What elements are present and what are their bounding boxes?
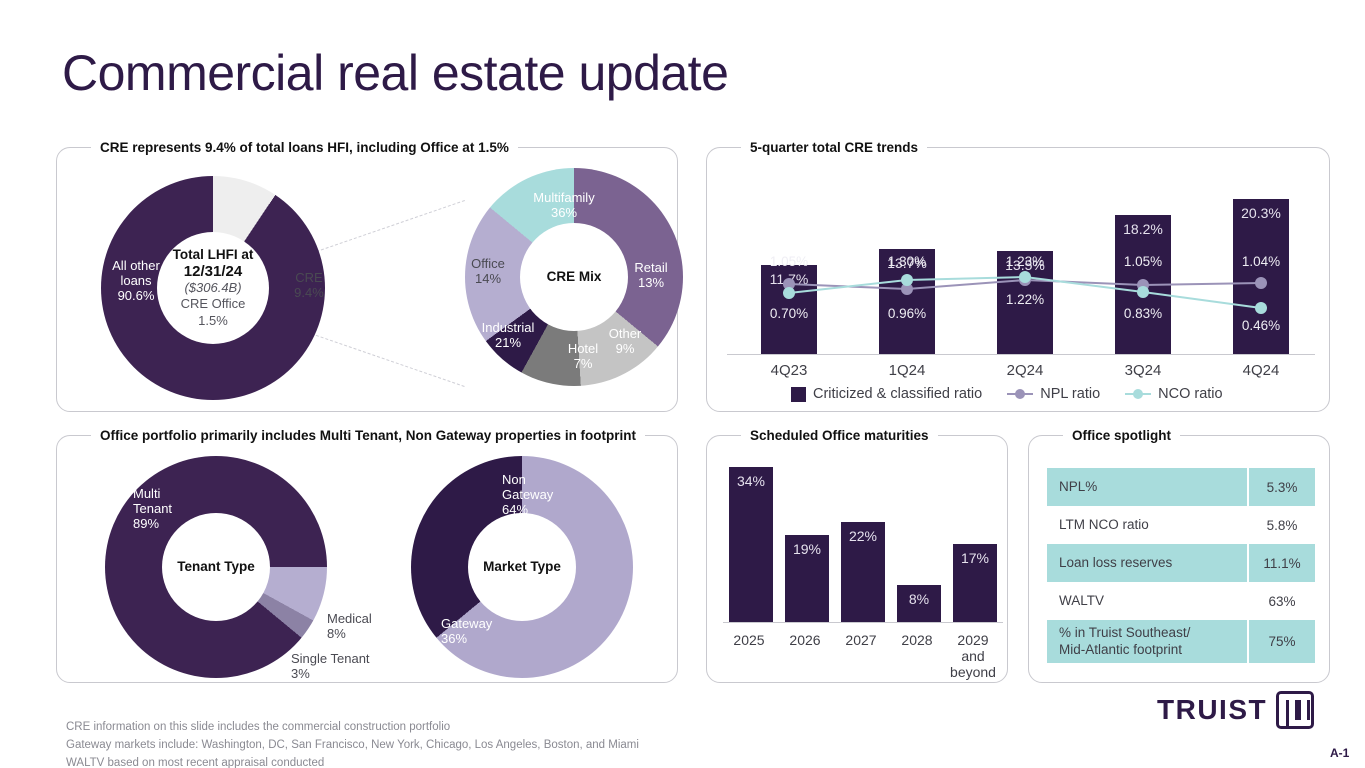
bar-maturity-value-2028: 8% bbox=[897, 591, 941, 607]
nco-value-2Q24: 1.22% bbox=[997, 292, 1053, 307]
truist-hh-mark-icon bbox=[1276, 691, 1314, 729]
legend-label-npl: NPL ratio bbox=[1040, 386, 1100, 402]
cre-mix-label-multifamily: Multifamily 36% bbox=[516, 190, 612, 220]
nco-marker-4Q24 bbox=[1255, 302, 1267, 314]
cre-mix-label-hotel: Hotel 7% bbox=[560, 341, 606, 371]
lhfi-label-cre: CRE 9.4% bbox=[281, 270, 337, 300]
bar-maturity-2028: 8% bbox=[897, 585, 941, 622]
connector-lower bbox=[302, 330, 465, 387]
nco-marker-3Q24 bbox=[1137, 286, 1149, 298]
footnote-line-2: Gateway markets include: Washington, DC,… bbox=[66, 737, 639, 755]
lhfi-center-line2: 12/31/24 bbox=[184, 263, 242, 280]
legend-item-nco: NCO ratio bbox=[1125, 386, 1222, 402]
npl-value-2Q24: 1.23% bbox=[997, 254, 1053, 269]
cre-mix-label-industrial: Industrial 21% bbox=[465, 320, 551, 350]
maturities-axis-line bbox=[723, 622, 1003, 623]
table-row: Loan loss reserves 11.1% bbox=[1047, 544, 1315, 582]
logo-wordmark: TRUIST bbox=[1157, 694, 1267, 726]
panel-office-portfolio-title: Office portfolio primarily includes Mult… bbox=[91, 426, 645, 446]
npl-value-4Q24: 1.04% bbox=[1233, 254, 1289, 269]
slide-root: Commercial real estate update CRE repres… bbox=[0, 0, 1365, 768]
panel-office-portfolio: Office portfolio primarily includes Mult… bbox=[56, 435, 678, 683]
spotlight-value-waltv: 63% bbox=[1247, 582, 1315, 620]
spotlight-metric-waltv: WALTV bbox=[1047, 582, 1247, 620]
spotlight-metric-ltm-nco: LTM NCO ratio bbox=[1047, 506, 1247, 544]
market-label-gateway: Gateway 36% bbox=[441, 616, 517, 646]
spotlight-value-npl: 5.3% bbox=[1247, 468, 1315, 506]
bar-maturity-2029: 17% bbox=[953, 544, 997, 622]
panel-office-maturities: Scheduled Office maturities 34% 19% 22% … bbox=[706, 435, 1008, 683]
npl-value-4Q23: 1.05% bbox=[761, 254, 817, 269]
nco-value-4Q24: 0.46% bbox=[1233, 318, 1289, 333]
spotlight-value-loan-loss-reserves: 11.1% bbox=[1247, 544, 1315, 582]
npl-value-1Q24: 1.30% bbox=[879, 254, 935, 269]
legend-item-criticized: Criticized & classified ratio bbox=[791, 386, 982, 402]
legend-swatch-nco-icon bbox=[1125, 393, 1151, 395]
nco-value-3Q24: 0.83% bbox=[1115, 306, 1171, 321]
bar-maturity-value-2025: 34% bbox=[729, 473, 773, 489]
spotlight-metric-npl: NPL% bbox=[1047, 468, 1247, 506]
table-row: WALTV 63% bbox=[1047, 582, 1315, 620]
donut-hole-lhfi: Total LHFI at 12/31/24 ($306.4B) CRE Off… bbox=[157, 232, 269, 344]
spotlight-metric-southeast-footprint: % in Truist Southeast/ Mid-Atlantic foot… bbox=[1047, 620, 1247, 663]
tenant-label-single-tenant: Single Tenant 3% bbox=[291, 651, 401, 681]
trends-axis-line bbox=[727, 354, 1315, 355]
legend-item-npl: NPL ratio bbox=[1007, 386, 1100, 402]
bar-maturity-value-2029: 17% bbox=[953, 550, 997, 566]
bar-maturity-2026: 19% bbox=[785, 535, 829, 622]
nco-marker-2Q24 bbox=[1019, 271, 1031, 283]
trends-tick-1Q24: 1Q24 bbox=[879, 362, 935, 379]
panel-cre-mix-title: CRE represents 9.4% of total loans HFI, … bbox=[91, 138, 518, 158]
page-title: Commercial real estate update bbox=[62, 46, 728, 101]
table-row: NPL% 5.3% bbox=[1047, 468, 1315, 506]
panel-office-maturities-title: Scheduled Office maturities bbox=[741, 426, 938, 446]
spotlight-value-southeast-footprint: 75% bbox=[1247, 620, 1315, 663]
footnotes: CRE information on this slide includes t… bbox=[66, 719, 639, 768]
office-spotlight-table: NPL% 5.3% LTM NCO ratio 5.8% Loan loss r… bbox=[1047, 468, 1315, 663]
donut-hole-cre-mix: CRE Mix bbox=[520, 223, 628, 331]
trends-tick-3Q24: 3Q24 bbox=[1115, 362, 1171, 379]
chart-office-maturities: 34% 19% 22% 8% 17% bbox=[723, 458, 993, 622]
cre-mix-label-office: Office 14% bbox=[459, 256, 517, 286]
npl-value-3Q24: 1.05% bbox=[1115, 254, 1171, 269]
legend-label-nco: NCO ratio bbox=[1158, 386, 1222, 402]
lhfi-center-line1: Total LHFI at bbox=[173, 247, 254, 263]
tenant-type-center-label: Tenant Type bbox=[177, 559, 255, 575]
spotlight-value-ltm-nco: 5.8% bbox=[1247, 506, 1315, 544]
table-row: LTM NCO ratio 5.8% bbox=[1047, 506, 1315, 544]
page-reference: A-1 bbox=[1330, 746, 1349, 760]
tenant-label-medical: Medical 8% bbox=[327, 611, 403, 641]
tenant-label-multi-tenant: Multi Tenant 89% bbox=[133, 486, 205, 531]
legend-swatch-npl-icon bbox=[1007, 393, 1033, 395]
bar-maturity-2027: 22% bbox=[841, 522, 885, 622]
market-type-center-label: Market Type bbox=[483, 559, 561, 575]
trends-tick-4Q23: 4Q23 bbox=[761, 362, 817, 379]
lhfi-center-amount: ($306.4B) bbox=[184, 280, 241, 296]
bar-maturity-value-2026: 19% bbox=[785, 541, 829, 557]
market-label-non-gateway: Non Gateway 64% bbox=[502, 472, 582, 517]
lhfi-label-all-other-loans: All other loans 90.6% bbox=[103, 258, 169, 303]
connector-upper bbox=[302, 200, 465, 257]
trends-tick-4Q24: 4Q24 bbox=[1233, 362, 1289, 379]
table-row: % in Truist Southeast/ Mid-Atlantic foot… bbox=[1047, 620, 1315, 663]
bar-maturity-value-2027: 22% bbox=[841, 528, 885, 544]
panel-cre-trends-title: 5-quarter total CRE trends bbox=[741, 138, 927, 158]
donut-hole-market-type: Market Type bbox=[468, 513, 576, 621]
nco-marker-1Q24 bbox=[901, 274, 913, 286]
nco-value-1Q24: 0.96% bbox=[879, 306, 935, 321]
nco-value-4Q23: 0.70% bbox=[761, 306, 817, 321]
panel-office-spotlight: Office spotlight NPL% 5.3% LTM NCO ratio… bbox=[1028, 435, 1330, 683]
legend-label-criticized: Criticized & classified ratio bbox=[813, 386, 982, 402]
truist-logo: TRUIST bbox=[1157, 691, 1314, 729]
trends-tick-2Q24: 2Q24 bbox=[997, 362, 1053, 379]
trends-legend: Criticized & classified ratio NPL ratio … bbox=[791, 386, 1223, 402]
nco-marker-4Q23 bbox=[783, 287, 795, 299]
maturity-tick-2025: 2025 bbox=[721, 632, 777, 648]
cre-mix-label-retail: Retail 13% bbox=[623, 260, 679, 290]
panel-cre-mix: CRE represents 9.4% of total loans HFI, … bbox=[56, 147, 678, 412]
bar-maturity-2025: 34% bbox=[729, 467, 773, 622]
cre-mix-center-label: CRE Mix bbox=[547, 269, 602, 285]
maturity-tick-2027: 2027 bbox=[833, 632, 889, 648]
footnote-line-1: CRE information on this slide includes t… bbox=[66, 719, 639, 737]
maturity-tick-2028: 2028 bbox=[889, 632, 945, 648]
spotlight-metric-loan-loss-reserves: Loan loss reserves bbox=[1047, 544, 1247, 582]
maturity-tick-2026: 2026 bbox=[777, 632, 833, 648]
panel-office-spotlight-title: Office spotlight bbox=[1063, 426, 1180, 446]
maturity-tick-2029-and-beyond: 2029 and beyond bbox=[945, 632, 1001, 680]
lhfi-center-note2: 1.5% bbox=[198, 313, 228, 329]
legend-swatch-criticized-icon bbox=[791, 387, 806, 402]
panel-cre-trends: 5-quarter total CRE trends 11.7% 13.7% 1… bbox=[706, 147, 1330, 412]
lhfi-center-note1: CRE Office bbox=[181, 296, 246, 312]
chart-cre-trends: 11.7% 13.7% 13.5% 18.2% 20.3% bbox=[727, 166, 1315, 358]
npl-marker-4Q24 bbox=[1255, 277, 1267, 289]
footnote-line-3: WALTV based on most recent appraisal con… bbox=[66, 755, 639, 768]
